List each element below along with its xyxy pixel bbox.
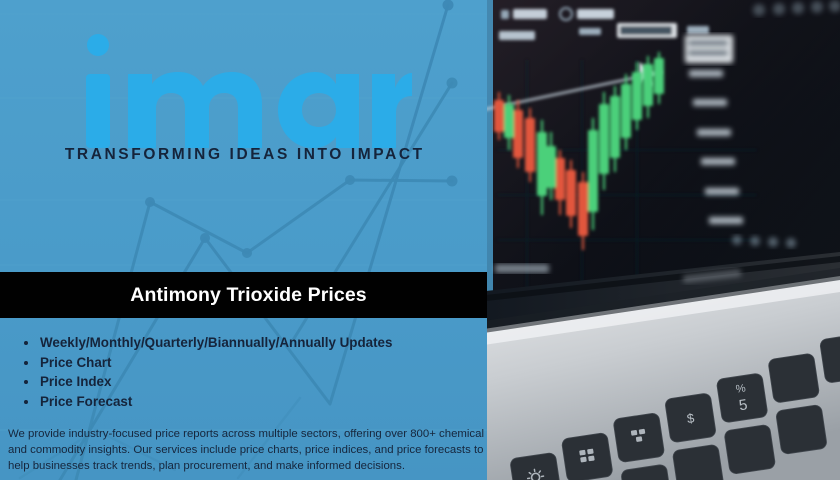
left-brand-panel: TRANSFORMING IDEAS INTO IMPACT Weekly/Mo… bbox=[0, 0, 487, 480]
list-item: Weekly/Monthly/Quarterly/Biannually/Annu… bbox=[22, 333, 482, 353]
title-bar: Antimony Trioxide Prices bbox=[0, 272, 497, 318]
list-item: Price Forecast bbox=[22, 392, 482, 412]
feature-list: Weekly/Monthly/Quarterly/Biannually/Annu… bbox=[22, 333, 482, 411]
list-item: Price Chart bbox=[22, 353, 482, 373]
page-title: Antimony Trioxide Prices bbox=[130, 284, 366, 307]
list-item: Price Index bbox=[22, 372, 482, 392]
key-label-percent: % bbox=[735, 382, 747, 395]
description-paragraph: We provide industry-focused price report… bbox=[8, 426, 487, 475]
laptop-photo-illustration: $ % 5 bbox=[487, 0, 840, 480]
promo-banner: TRANSFORMING IDEAS INTO IMPACT Weekly/Mo… bbox=[0, 0, 840, 480]
brand-tagline: TRANSFORMING IDEAS INTO IMPACT bbox=[0, 146, 487, 164]
laptop-trading-photo: $ % 5 bbox=[487, 0, 840, 480]
brand-logo-block: TRANSFORMING IDEAS INTO IMPACT bbox=[0, 0, 487, 272]
imarc-logo-icon bbox=[72, 28, 412, 148]
